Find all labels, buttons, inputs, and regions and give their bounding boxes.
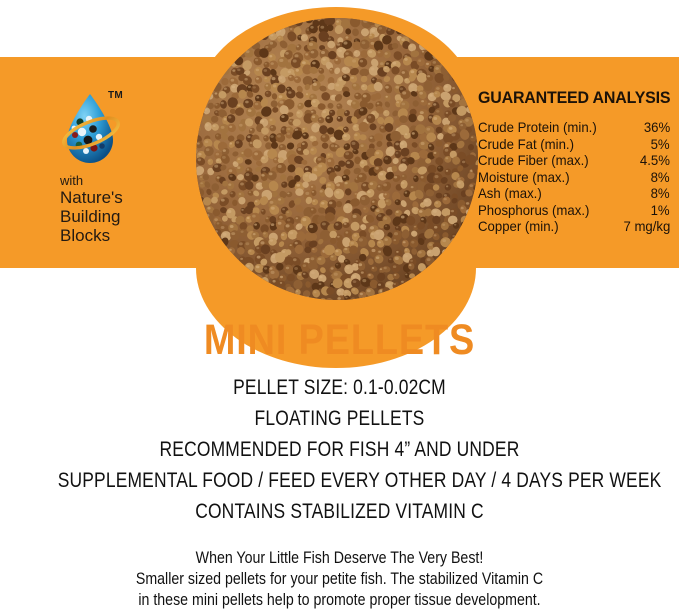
brand-name-line-1: Nature's [60, 188, 180, 207]
spec-list: PELLET SIZE: 0.1-0.02CMFLOATING PELLETSR… [0, 372, 679, 527]
marketing-blurb: When Your Little Fish Deserve The Very B… [0, 548, 679, 611]
analysis-nutrient: Crude Fat (min.) [478, 137, 574, 154]
guaranteed-analysis-table: Crude Protein (min.)36%Crude Fat (min.)5… [478, 120, 670, 236]
blurb-line: in these mini pellets help to promote pr… [48, 590, 632, 611]
blurb-line: Smaller sized pellets for your petite fi… [48, 569, 632, 590]
analysis-value: 1% [651, 203, 670, 220]
analysis-row: Copper (min.)7 mg/kg [478, 219, 670, 236]
analysis-value: 5% [651, 137, 670, 154]
spec-line: RECOMMENDED FOR FISH 4” AND UNDER [58, 434, 622, 465]
brand-logo: TM with Nature's Building Blocks [60, 88, 180, 245]
analysis-value: 7 mg/kg [623, 219, 670, 236]
water-droplet-molecule-icon: TM [60, 88, 134, 172]
pellets-texture-icon [196, 18, 478, 300]
analysis-row: Moisture (max.)8% [478, 170, 670, 187]
analysis-nutrient: Moisture (max.) [478, 170, 570, 187]
analysis-nutrient: Ash (max.) [478, 186, 542, 203]
analysis-nutrient: Crude Fiber (max.) [478, 153, 589, 170]
analysis-value: 8% [651, 170, 670, 187]
analysis-row: Ash (max.)8% [478, 186, 670, 203]
spec-line: FLOATING PELLETS [58, 403, 622, 434]
pellets-photo-circle [196, 18, 478, 300]
page-title: MINI PELLETS [41, 316, 639, 365]
trademark-symbol: TM [108, 90, 123, 101]
analysis-nutrient: Phosphorus (max.) [478, 203, 589, 220]
analysis-row: Crude Fat (min.)5% [478, 137, 670, 154]
guaranteed-analysis-panel: GUARANTEED ANALYSIS Crude Protein (min.)… [478, 88, 670, 236]
analysis-nutrient: Copper (min.) [478, 219, 559, 236]
logo-with-text: with [60, 174, 180, 188]
analysis-row: Crude Fiber (max.)4.5% [478, 153, 670, 170]
guaranteed-analysis-title: GUARANTEED ANALYSIS [478, 88, 658, 108]
spec-line: CONTAINS STABILIZED VITAMIN C [58, 496, 622, 527]
analysis-value: 8% [651, 186, 670, 203]
analysis-value: 36% [644, 120, 670, 137]
analysis-nutrient: Crude Protein (min.) [478, 120, 597, 137]
analysis-value: 4.5% [640, 153, 670, 170]
blurb-line: When Your Little Fish Deserve The Very B… [48, 548, 632, 569]
spec-line: PELLET SIZE: 0.1-0.02CM [58, 372, 622, 403]
brand-name-line-2: Building [60, 207, 180, 226]
brand-name-line-3: Blocks [60, 226, 180, 245]
product-label: TM with Nature's Building Blocks GUARANT… [0, 0, 679, 615]
spec-line: SUPPLEMENTAL FOOD / FEED EVERY OTHER DAY… [58, 465, 622, 496]
analysis-row: Phosphorus (max.)1% [478, 203, 670, 220]
analysis-row: Crude Protein (min.)36% [478, 120, 670, 137]
